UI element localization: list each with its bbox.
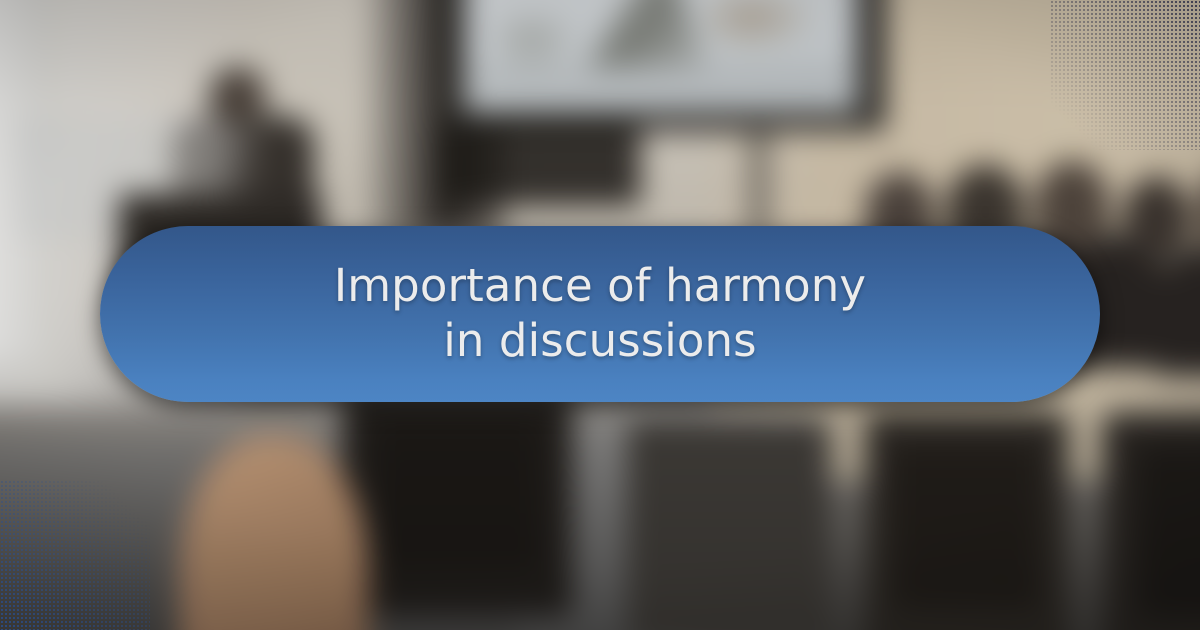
social-card: Importance of harmony in discussions	[0, 0, 1200, 630]
halftone-dots-top-right-icon	[1050, 0, 1200, 150]
halftone-dots-bottom-left-icon	[0, 480, 150, 630]
title-pill: Importance of harmony in discussions	[100, 226, 1100, 402]
page-title: Importance of harmony in discussions	[264, 259, 936, 369]
banner-wrapper: Importance of harmony in discussions	[0, 226, 1200, 402]
